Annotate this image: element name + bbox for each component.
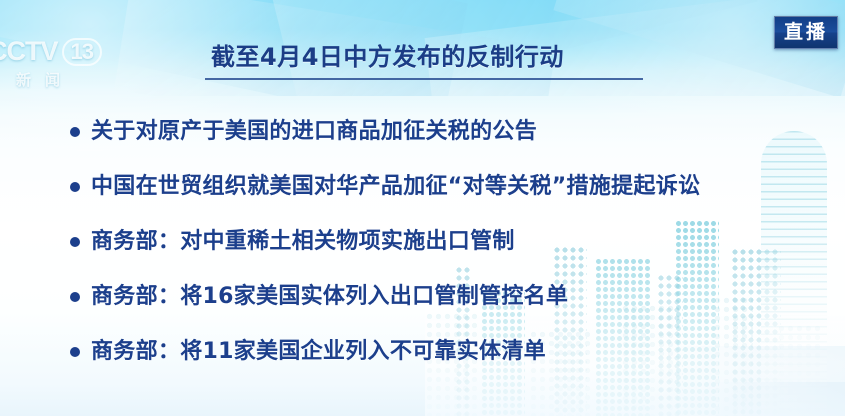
list-item-label: 商务部：将11家美国企业列入不可靠实体清单 [91,338,546,366]
cctv-logo-row: CCTV 13 [0,36,130,67]
bullet-dot-icon [70,127,80,137]
list-item-label: 商务部：对中重稀土相关物项实施出口管制 [91,228,515,256]
cctv-wordmark: CCTV [0,36,58,67]
page-title: 截至4月4日中方发布的反制行动 [211,42,564,72]
list-item: 关于对原产于美国的进口商品加征关税的公告 [70,104,830,159]
bullet-dot-icon [70,347,80,357]
bullet-dot-icon [70,182,80,192]
live-badge: 直播 [774,16,838,49]
list-item: 商务部：对中重稀土相关物项实施出口管制 [70,214,830,269]
broadcast-lower-third-graphic: CCTV 13 新闻 直播 截至4月4日中方发布的反制行动 关于对原产于美国的进… [0,0,845,416]
measures-list: 关于对原产于美国的进口商品加征关税的公告 中国在世贸组织就美国对华产品加征“对等… [70,104,830,379]
cctv-channel-logo: CCTV 13 新闻 [0,36,130,94]
list-item: 中国在世贸组织就美国对华产品加征“对等关税”措施提起诉讼 [70,159,830,214]
cctv-channel-subtitle: 新闻 [16,69,130,90]
list-item-label: 中国在世贸组织就美国对华产品加征“对等关税”措施提起诉讼 [91,173,700,201]
title-underline-divider [205,78,643,80]
cctv-channel-number: 13 [62,38,102,66]
list-item: 商务部：将16家美国实体列入出口管制管控名单 [70,269,830,324]
list-item-label: 关于对原产于美国的进口商品加征关税的公告 [91,118,537,146]
bullet-dot-icon [70,237,80,247]
skyline-ground-accent [665,382,845,416]
list-item-label: 商务部：将16家美国实体列入出口管制管控名单 [91,283,568,311]
bullet-dot-icon [70,292,80,302]
list-item: 商务部：将11家美国企业列入不可靠实体清单 [70,324,830,379]
